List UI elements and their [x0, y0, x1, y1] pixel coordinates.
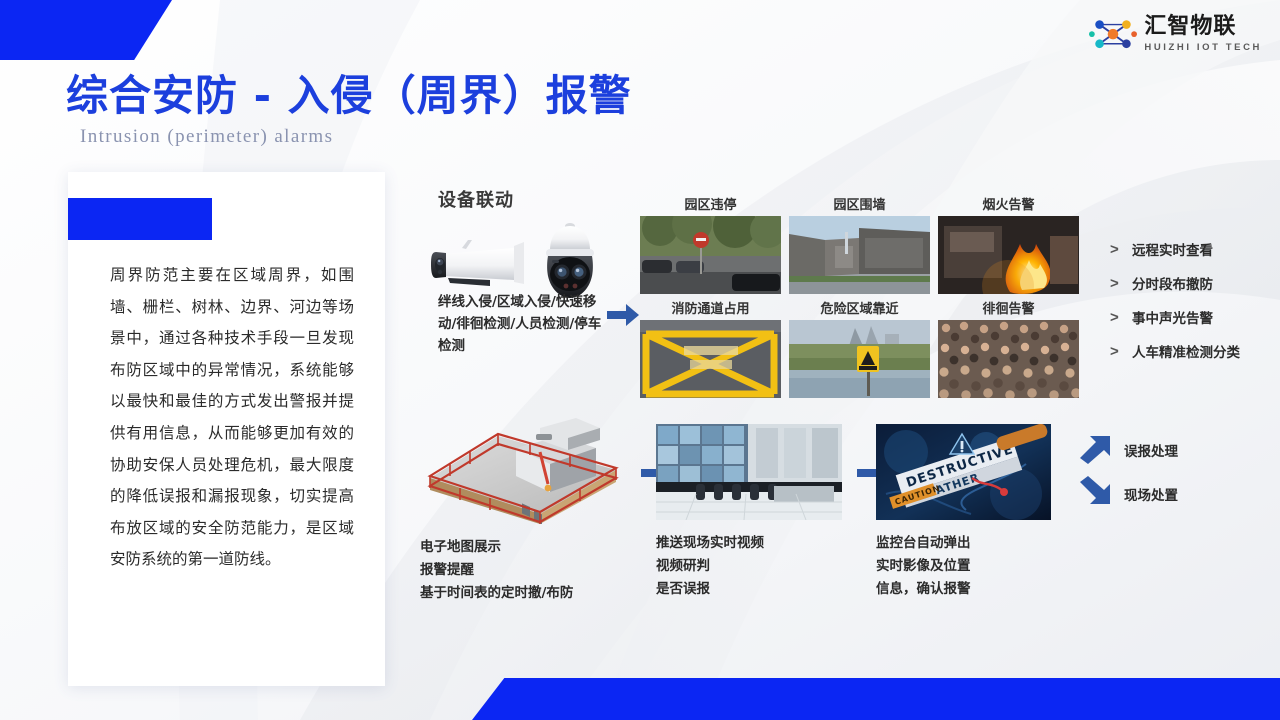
logo-english-name: HUIZHI IOT TECH — [1144, 43, 1262, 53]
scene-label: 园区围墙 — [789, 194, 930, 212]
street-parked-cars-photo — [640, 216, 781, 294]
chevron-right-icon: > — [1110, 309, 1120, 326]
scene-label: 徘徊告警 — [938, 298, 1079, 316]
flow-step: DESTRUCTIVE WEATHER CAUTION — [876, 424, 1051, 602]
flow-caption-line: 视频研判 — [656, 555, 842, 578]
outcome-label: 误报处理 — [1124, 440, 1178, 460]
capability-label: 人车精准检测分类 — [1132, 341, 1240, 361]
factory-perimeter-wall-photo — [789, 216, 930, 294]
section-title-device-linkage: 设备联动 — [438, 186, 514, 212]
flow-caption-line: 是否误报 — [656, 578, 842, 601]
bullet-camera-icon — [431, 240, 524, 286]
arrow-up-right-icon — [1078, 434, 1112, 464]
flow-caption-line: 电子地图展示 — [420, 536, 630, 559]
capability-item[interactable]: > 分时段布撤防 — [1110, 266, 1280, 300]
capability-list: > 远程实时查看 > 分时段布撤防 > 事中声光告警 > 人车精准检测分类 — [1110, 232, 1280, 368]
molecule-network-icon — [1089, 14, 1137, 54]
card-body-text: 周界防范主要在区域周界，如围墙、栅栏、树林、边界、河边等场景中，通过各种技术手段… — [110, 260, 354, 576]
flow-caption: 监控台自动弹出 实时影像及位置 信息，确认报警 — [876, 532, 1051, 602]
bottom-accent-bar — [472, 678, 1280, 720]
page-subtitle: Intrusion (perimeter) alarms — [80, 126, 333, 148]
chevron-right-icon: > — [1110, 275, 1120, 292]
scene-label: 危险区域靠近 — [789, 298, 930, 316]
capability-label: 事中声光告警 — [1132, 307, 1213, 327]
page-title: 综合安防 - 入侵（周界）报警 — [66, 62, 632, 123]
destructive-weather-alert-screen: DESTRUCTIVE WEATHER CAUTION — [876, 424, 1051, 520]
scene-cell: 烟火告警 — [938, 194, 1079, 294]
arrow-right-icon — [606, 302, 640, 328]
scene-grid: 园区违停 — [640, 194, 1080, 400]
flow-caption: 电子地图展示 报警提醒 基于时间表的定时撤/布防 — [420, 536, 630, 606]
capability-item[interactable]: > 人车精准检测分类 — [1110, 334, 1280, 368]
scene-cell: 危险区域靠近 — [789, 298, 930, 398]
response-flow: 电子地图展示 报警提醒 基于时间表的定时撤/布防 — [410, 414, 1280, 634]
flow-caption-line: 基于时间表的定时撤/布防 — [420, 582, 630, 605]
flow-caption-line: 报警提醒 — [420, 559, 630, 582]
scene-label: 烟火告警 — [938, 194, 1079, 212]
chevron-right-icon: > — [1110, 241, 1120, 258]
scene-row-1: 园区违停 — [640, 194, 1080, 294]
scene-row-2: 消防通道占用 危险区域靠近 — [640, 298, 1080, 398]
crowd-of-people-photo — [938, 320, 1079, 398]
chevron-right-icon: > — [1110, 343, 1120, 360]
fire-flames-photo — [938, 216, 1079, 294]
scene-label: 消防通道占用 — [640, 298, 781, 316]
flow-caption-line: 推送现场实时视频 — [656, 532, 842, 555]
control-room-video-wall-photo — [656, 424, 842, 520]
scene-cell: 徘徊告警 — [938, 298, 1079, 398]
flow-step: 电子地图展示 报警提醒 基于时间表的定时撤/布防 — [420, 414, 630, 606]
scene-cell: 园区围墙 — [789, 194, 930, 294]
logo-chinese-name: 汇智物联 — [1144, 16, 1262, 38]
description-card: 周界防范主要在区域周界，如围墙、栅栏、树林、边界、河边等场景中，通过各种技术手段… — [68, 172, 385, 686]
scene-cell: 园区违停 — [640, 194, 781, 294]
yellow-fire-lane-marking-photo — [640, 320, 781, 398]
outcome-label: 现场处置 — [1124, 484, 1178, 504]
diagram-region: 设备联动 — [410, 170, 1280, 650]
flow-step: 推送现场实时视频 视频研判 是否误报 — [656, 424, 842, 602]
flow-caption-line: 监控台自动弹出 — [876, 532, 1051, 555]
ptz-dome-camera-icon — [546, 223, 594, 298]
brand-logo: 汇智物联 HUIZHI IOT TECH — [1089, 14, 1262, 54]
scene-label: 园区违停 — [640, 194, 781, 212]
flow-caption: 推送现场实时视频 视频研判 是否误报 — [656, 532, 842, 602]
3d-building-fence-model — [420, 414, 630, 524]
flow-caption-line: 信息，确认报警 — [876, 578, 1051, 601]
flow-caption-line: 实时影像及位置 — [876, 555, 1051, 578]
capability-item[interactable]: > 远程实时查看 — [1110, 232, 1280, 266]
card-tag-badge — [68, 198, 212, 240]
camera-capability-caption: 绊线入侵/区域入侵/快速移动/徘徊检测/人员检测/停车检测 — [438, 292, 610, 358]
capability-label: 远程实时查看 — [1132, 239, 1213, 259]
arrow-down-right-icon — [1078, 476, 1112, 506]
scene-cell: 消防通道占用 — [640, 298, 781, 398]
capability-label: 分时段布撤防 — [1132, 273, 1213, 293]
riverside-hazard-sign-photo — [789, 320, 930, 398]
capability-item[interactable]: > 事中声光告警 — [1110, 300, 1280, 334]
